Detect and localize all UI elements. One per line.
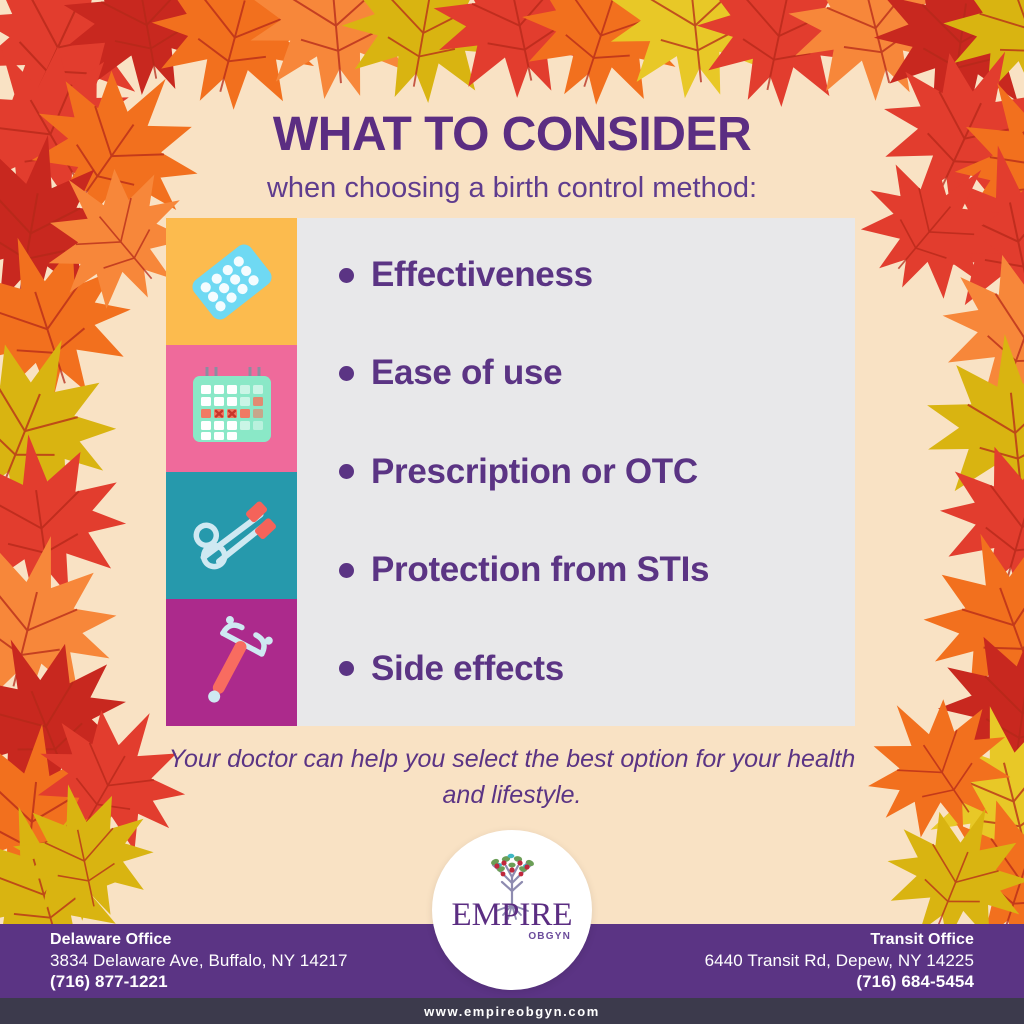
consideration-label: Effectiveness: [371, 256, 593, 295]
list-item: Effectiveness: [297, 256, 841, 295]
list-item: Side effects: [297, 650, 841, 689]
iud-icon: [180, 611, 284, 715]
maple-leaf-icon: [901, 681, 1024, 902]
website-url[interactable]: www.empireobgyn.com: [424, 1004, 600, 1019]
list-item: Ease of use: [297, 354, 841, 393]
logo-subtext: OBGYN: [528, 931, 571, 942]
maple-leaf-icon: [596, 0, 792, 113]
page-subtitle: when choosing a birth control method:: [0, 171, 1024, 206]
office-phone[interactable]: (716) 684-5454: [705, 971, 974, 992]
office-address: 6440 Transit Rd, Depew, NY 14225: [705, 950, 974, 971]
maple-leaf-icon: [0, 511, 139, 729]
maple-leaf-icon: [917, 409, 1024, 624]
maple-leaf-icon: [0, 767, 168, 939]
considerations-card: Effectiveness Ease of use Prescription o…: [166, 218, 855, 726]
consideration-label: Ease of use: [371, 354, 562, 393]
bullet-dot-icon: [339, 366, 354, 381]
website-bar: www.empireobgyn.com: [0, 998, 1024, 1024]
maple-leaf-icon: [47, 0, 244, 113]
maple-leaf-icon: [915, 215, 1024, 441]
maple-leaf-icon: [237, 0, 432, 113]
infographic-poster: WHAT TO CONSIDER when choosing a birth c…: [0, 0, 1024, 1024]
office-phone[interactable]: (716) 877-1221: [50, 971, 348, 992]
page-title: WHAT TO CONSIDER: [0, 110, 1024, 161]
bullet-dot-icon: [339, 661, 354, 676]
maple-leaf-icon: [895, 500, 1024, 731]
maple-leaf-icon: [916, 0, 1024, 128]
bullet-dot-icon: [339, 464, 354, 479]
maple-leaf-icon: [0, 604, 155, 831]
icon-tile-scissors: [166, 472, 297, 599]
office-transit: Transit Office 6440 Transit Rd, Depew, N…: [705, 930, 994, 993]
scissors-icon: [180, 484, 284, 588]
maple-leaf-icon: [913, 321, 1024, 523]
header-block: WHAT TO CONSIDER when choosing a birth c…: [0, 110, 1024, 206]
consideration-label: Side effects: [371, 650, 564, 689]
consideration-label: Protection from STIs: [371, 551, 709, 590]
maple-leaf-icon: [766, 0, 979, 125]
pill-pack-icon: [180, 230, 284, 334]
office-name: Transit Office: [705, 930, 974, 950]
caption-text: Your doctor can help you select the best…: [162, 742, 862, 813]
calendar-icon: [180, 361, 284, 457]
office-name: Delaware Office: [50, 930, 348, 950]
icon-tile-pill-pack: [166, 218, 297, 345]
logo-wordmark: EMPIRE: [441, 899, 583, 932]
considerations-list: Effectiveness Ease of use Prescription o…: [297, 218, 855, 726]
maple-leaf-icon: [0, 711, 133, 911]
office-delaware: Delaware Office 3834 Delaware Ave, Buffa…: [30, 930, 348, 993]
consideration-label: Prescription or OTC: [371, 453, 698, 492]
empire-obgyn-logo: EMPIRE OBGYN: [432, 830, 592, 990]
list-item: Protection from STIs: [297, 551, 841, 590]
office-address: 3834 Delaware Ave, Buffalo, NY 14217: [50, 950, 348, 971]
maple-leaf-icon: [0, 419, 139, 618]
icon-tile-calendar: [166, 345, 297, 472]
maple-leaf-icon: [327, 0, 524, 121]
icon-tile-iud: [166, 599, 297, 726]
maple-leaf-icon: [0, 207, 156, 431]
list-item: Prescription or OTC: [297, 453, 841, 492]
bullet-dot-icon: [339, 268, 354, 283]
bullet-dot-icon: [339, 563, 354, 578]
maple-leaf-icon: [0, 303, 147, 540]
maple-leaf-icon: [925, 604, 1024, 803]
icon-column: [166, 218, 297, 726]
maple-leaf-icon: [414, 0, 622, 119]
